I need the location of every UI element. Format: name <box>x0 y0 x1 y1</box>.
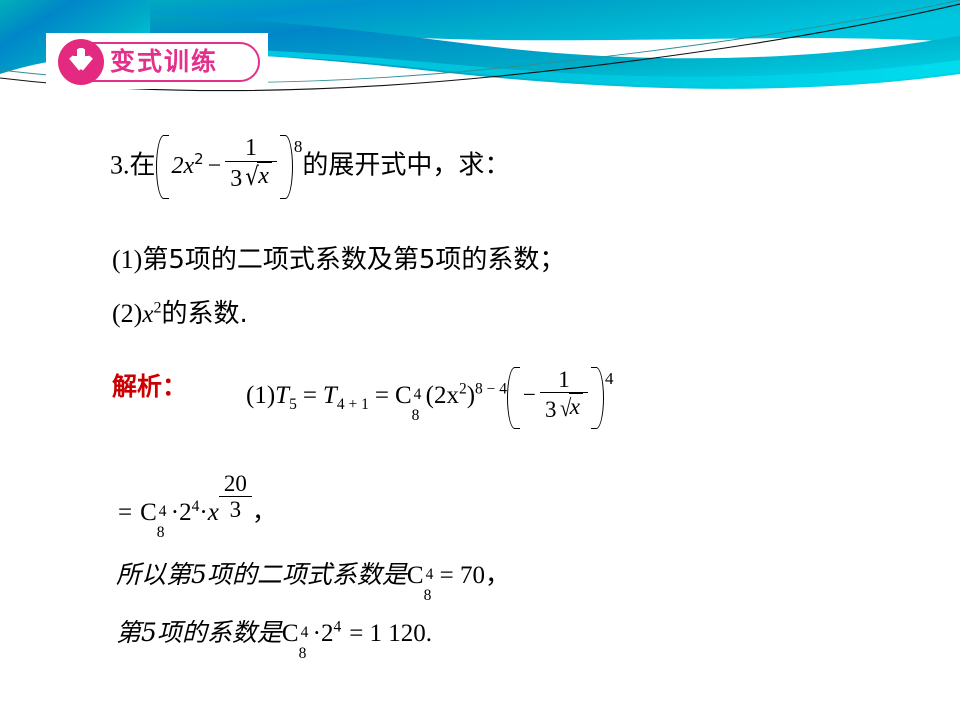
solution-4-text: 第5项的系数是 <box>116 618 282 647</box>
problem-tail: 的展开式中，求： <box>302 151 510 181</box>
solution-1-base-close: ) <box>467 382 475 409</box>
solution-2-exp-den: 3 <box>219 496 252 522</box>
solution-1-T41-sub: 4 + 1 <box>337 396 369 413</box>
solution-2-exp-num: 20 <box>219 472 252 496</box>
solution-2-dot1: · <box>171 499 179 526</box>
question-2-exponent: 2 <box>153 299 161 316</box>
solution-1-paren-fraction: 13√x <box>540 368 588 422</box>
solution-4-result: = 1 120. <box>349 620 432 647</box>
solution-2-comma: ， <box>252 499 277 526</box>
solution-label: 解析： <box>112 367 187 403</box>
solution-4-two: 2 <box>321 620 334 647</box>
expr-root-radicand: x <box>257 162 272 189</box>
solution-1-paren-minus: − <box>523 382 540 407</box>
question-2: (2)x2的系数. <box>112 293 248 330</box>
problem-lead: 在 <box>130 151 156 181</box>
solution-1-T5: T <box>275 382 289 409</box>
solution-1-eq1: = <box>297 382 323 409</box>
solution-4-dot: · <box>313 620 321 647</box>
question-1-text: 第5项的二项式系数及第5项的系数； <box>142 245 565 275</box>
solution-1-base-exp: 2 <box>459 381 467 398</box>
solution-1-eq2: = <box>369 382 395 409</box>
solution-1-C: C <box>395 382 412 409</box>
expr-fraction-numerator: 1 <box>225 136 277 161</box>
solution-1-paren-group: −13√x <box>507 367 604 427</box>
question-2-text: 的系数. <box>162 299 248 329</box>
solution-2-eq: = <box>118 499 132 526</box>
solution-2-x: x <box>208 499 219 526</box>
solution-1-paren-num: 1 <box>540 368 588 392</box>
solution-2-exponent-fraction: 203 <box>219 472 252 522</box>
expr-fraction: 13√x <box>225 136 277 192</box>
expr-term1: 2x <box>172 153 195 179</box>
solution-4-two-exp: 4 <box>333 619 341 636</box>
expr-root-index: 3 <box>230 166 242 192</box>
solution-1-marker: (1) <box>246 382 275 409</box>
expr-term1-exponent: 2 <box>194 150 203 168</box>
problem-statement: 3.在2x2−13√x8的展开式中，求： <box>110 135 510 197</box>
question-1-marker: (1) <box>112 245 142 274</box>
solution-1-T41: T <box>323 382 337 409</box>
solution-1-root-radicand: x <box>569 393 583 419</box>
expr-minus: − <box>204 153 226 179</box>
solution-line-3: 所以第5项的二项式系数是C84= 70， <box>116 555 510 591</box>
solution-3-result: = 70， <box>440 562 510 589</box>
solution-1-base: (2x <box>426 382 459 409</box>
problem-expression: 2x2−13√x <box>156 135 293 197</box>
question-2-marker: (2) <box>112 299 142 328</box>
solution-1-paren-power: 4 <box>605 369 614 389</box>
down-arrow-icon <box>58 39 104 85</box>
solution-line-4: 第5项的系数是C84·24= 1 120. <box>116 613 432 649</box>
solution-3-text: 所以第5项的二项式系数是 <box>116 560 407 589</box>
solution-2-C: C <box>140 499 157 526</box>
solution-1-root-index: 3 <box>545 397 557 422</box>
problem-number: 3. <box>110 151 130 180</box>
solution-2-dot2: · <box>199 499 207 526</box>
solution-line-2: =C84·24·x203， <box>118 475 277 528</box>
badge-label: 变式训练 <box>110 44 218 80</box>
solution-3-C: C <box>407 562 424 589</box>
solution-1-base-power: 8 − 4 <box>475 381 507 398</box>
slide-content: 3.在2x2−13√x8的展开式中，求： (1)第5项的二项式系数及第5项的系数… <box>0 105 960 720</box>
question-1: (1)第5项的二项式系数及第5项的系数； <box>112 239 565 276</box>
question-2-variable: x <box>142 301 153 328</box>
solution-1-T5-sub: 5 <box>289 396 297 413</box>
solution-2-two: 2 <box>179 499 192 526</box>
solution-line-1: (1)T5=T4 + 1=C84(2x2)8 − 4−13√x4 <box>246 367 613 427</box>
solution-4-C: C <box>282 620 299 647</box>
